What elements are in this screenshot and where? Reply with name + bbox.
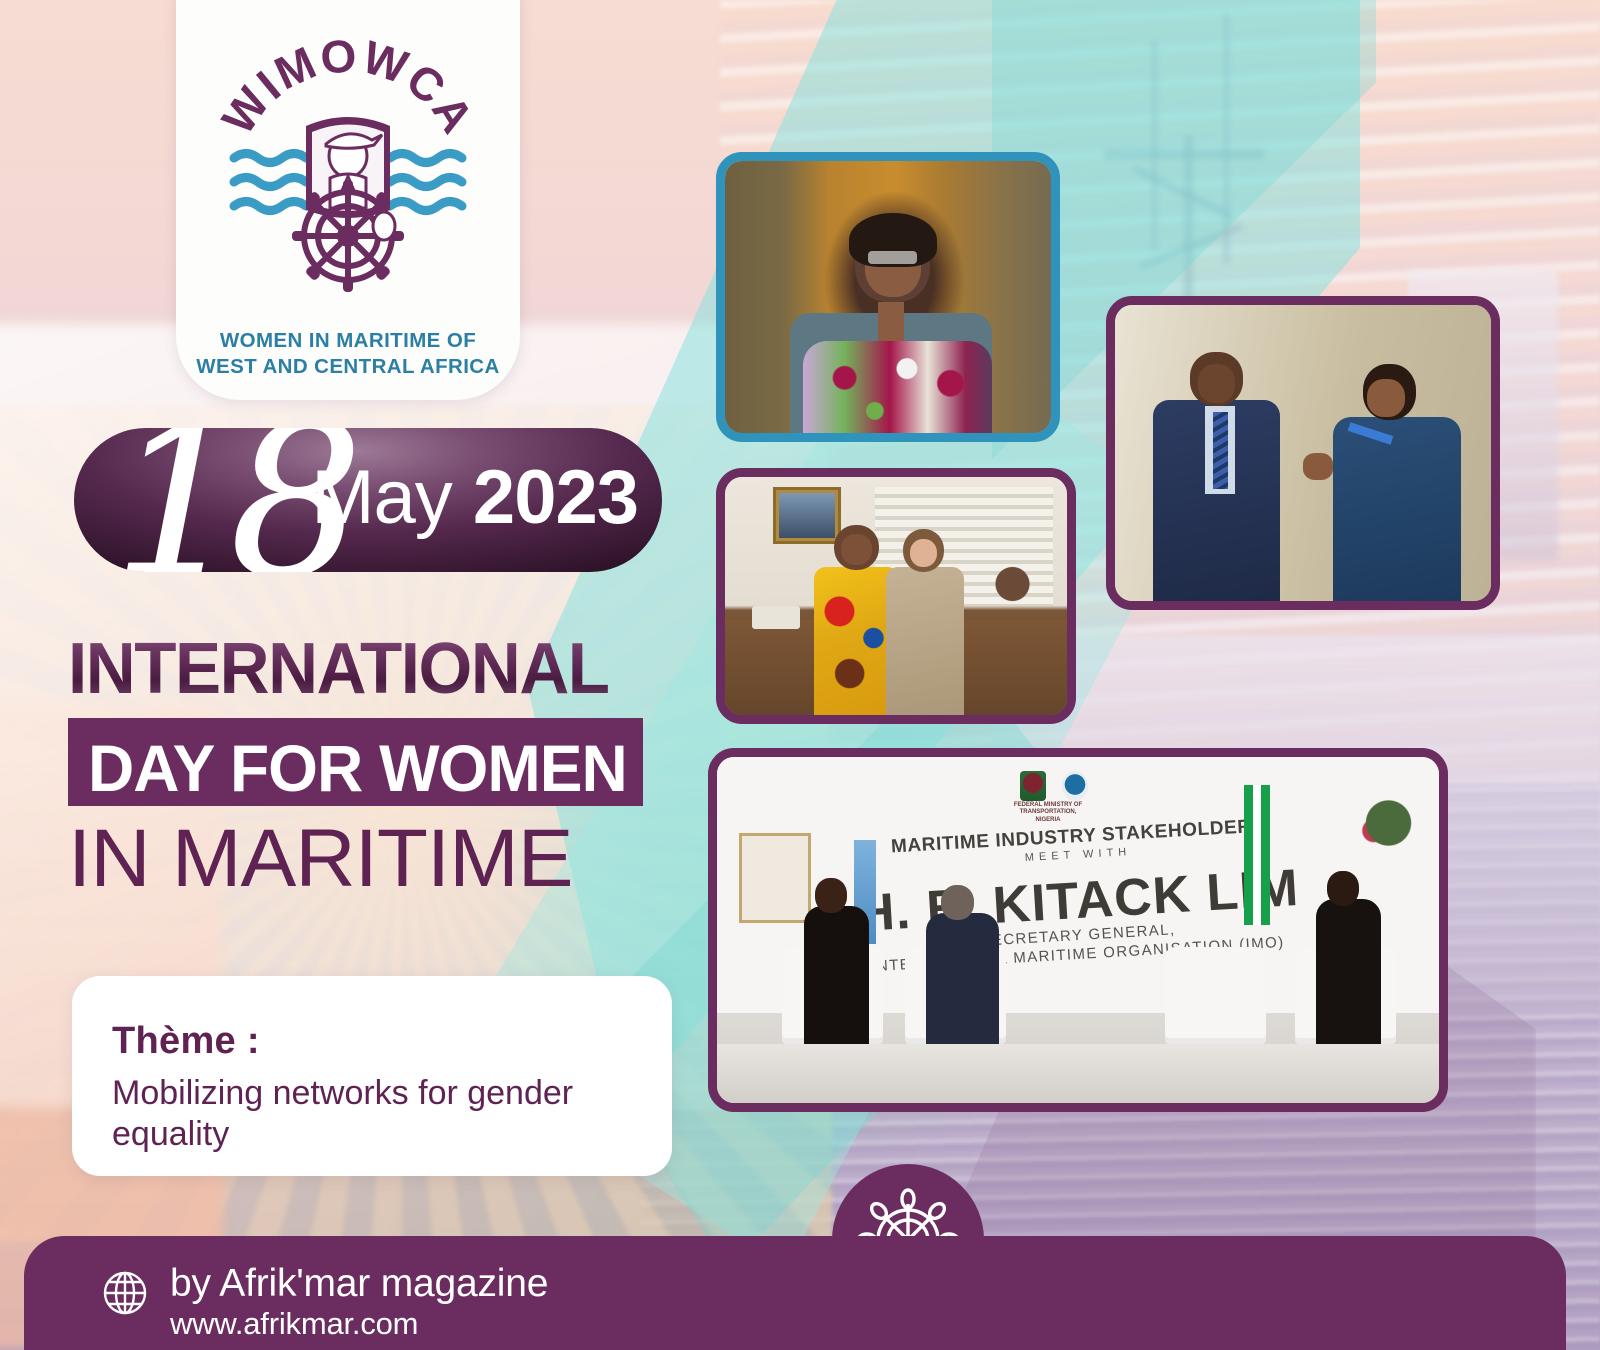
flowers-shape [985, 558, 1040, 610]
wall-portrait-shape [773, 487, 841, 544]
organization-name-line2: WEST AND CENTRAL AFRICA [196, 354, 499, 380]
man-face-shape [1198, 364, 1236, 402]
woman-face-shape [1367, 379, 1405, 417]
theme-label: Thème : [112, 1020, 632, 1063]
desk-phone-shape [752, 606, 800, 630]
organization-name-line1: WOMEN IN MARITIME OF [196, 328, 499, 354]
panelist-head-shape [941, 885, 974, 920]
glasses-shape [868, 251, 917, 265]
date-month: May [311, 455, 452, 540]
theme-text: Mobilizing networks for gender equality [112, 1073, 632, 1156]
panelist-shape [804, 906, 869, 1044]
date-month-year: May 2023 [311, 458, 638, 538]
woman2-face-shape [910, 539, 937, 568]
panelist-shape [926, 913, 998, 1044]
hand-shape [1303, 453, 1333, 480]
wall-art-shape [739, 833, 811, 923]
headline-line2: DAY FOR WOMEN [88, 730, 627, 806]
panelist-head-shape [1327, 871, 1359, 906]
woman-body-shape [1333, 417, 1461, 601]
neck-shape [878, 302, 904, 340]
photo-woman-at-desk [716, 152, 1060, 442]
organization-logo-card: WIMOWCA [176, 0, 520, 400]
footer-credit: by Afrik'mar magazine [170, 1262, 548, 1306]
footer-bar: by Afrik'mar magazine www.afrikmar.com [24, 1236, 1566, 1350]
wimowca-logo-icon: WIMOWCA [198, 30, 498, 320]
photo-two-women-office-image [725, 477, 1067, 715]
footer-website[interactable]: www.afrikmar.com [170, 1306, 548, 1342]
woman1-face-shape [841, 534, 872, 565]
stage-floor-shape [717, 1044, 1439, 1103]
panelist-head-shape [815, 878, 847, 913]
footer-text: by Afrik'mar magazine www.afrikmar.com [170, 1262, 548, 1342]
photo-delegates-conversation [1106, 296, 1500, 610]
organization-name: WOMEN IN MARITIME OF WEST AND CENTRAL AF… [196, 328, 499, 380]
photo-stage-panel-image: FEDERAL MINISTRY OF TRANSPORTATION, NIGE… [717, 757, 1439, 1103]
dress-shape [803, 341, 992, 433]
man-tie-shape [1213, 412, 1228, 489]
backdrop-emblems [1020, 771, 1088, 801]
date-badge: 18 May 2023 [74, 428, 662, 572]
backdrop-emblem-caption: FEDERAL MINISTRY OF TRANSPORTATION, NIGE… [1013, 802, 1083, 825]
photo-woman-at-desk-image [725, 161, 1051, 433]
nigeria-flag-shape [1244, 785, 1270, 925]
armchair-shape [1165, 947, 1266, 1044]
plant-shape [1352, 785, 1424, 861]
photo-two-women-office [716, 468, 1076, 724]
headline-line3: IN MARITIME [68, 812, 573, 906]
globe-icon [100, 1268, 150, 1318]
headline-line1: INTERNATIONAL [68, 628, 609, 710]
photo-delegates-conversation-image [1115, 305, 1491, 601]
woman2-body-shape [886, 567, 965, 715]
photo-stage-panel: FEDERAL MINISTRY OF TRANSPORTATION, NIGE… [708, 748, 1448, 1112]
maritime-agency-emblem-icon [1062, 771, 1088, 801]
nigeria-coat-of-arms-icon [1020, 771, 1046, 801]
theme-card: Thème : Mobilizing networks for gender e… [72, 976, 672, 1176]
panelist-shape [1316, 899, 1381, 1044]
date-day: 18 [112, 428, 342, 572]
date-year: 2023 [473, 455, 638, 540]
poster-canvas: WIMOWCA [0, 0, 1600, 1350]
